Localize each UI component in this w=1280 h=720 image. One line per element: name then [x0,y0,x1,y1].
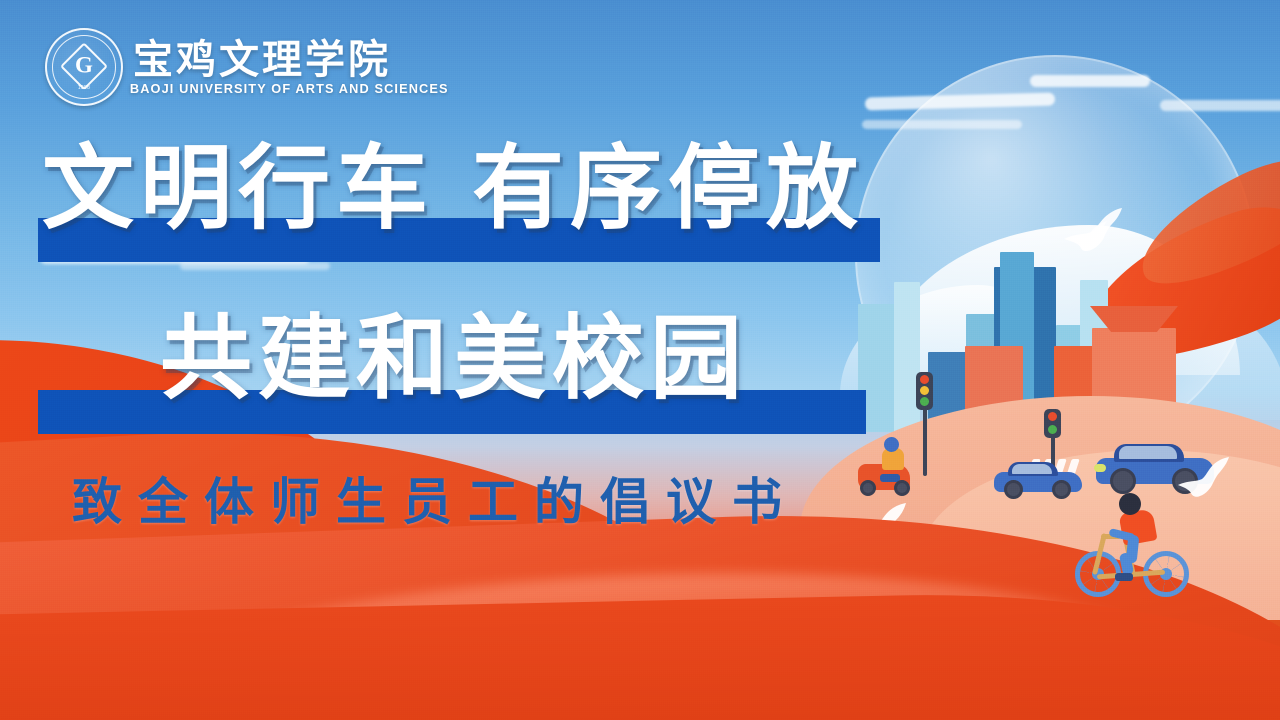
car-window [1119,446,1177,459]
car-headlight [1094,464,1106,472]
car-wheel [1052,480,1071,499]
university-name-en: BAOJI UNIVERSITY OF ARTS AND SCIENCES [130,82,449,96]
car-wheel [1004,480,1023,499]
headline-line-1: 文明行车 有序停放 [42,143,864,235]
university-crest-icon: G 1958 [45,28,123,106]
scooter-wheel [860,480,876,496]
university-name-cn: 宝鸡文理学院 [133,39,446,81]
traffic-light-red [920,375,929,384]
car-window [1012,464,1052,474]
scooter-rider [858,436,924,494]
cloud-icon [180,262,330,270]
cyclist [1075,490,1215,605]
poster-canvas: 文明行车 有序停放 共建和美校园 致全体师生员工的倡议书 G 1958 宝鸡文理… [0,0,1280,720]
building [894,282,920,432]
traffic-light-green [1048,425,1057,434]
crest-year: 1958 [78,85,90,91]
traffic-light-green [920,397,929,406]
cloud-icon [862,120,1022,129]
cyclist-head [1119,493,1141,515]
headline-line-2: 共建和美校园 [160,313,748,405]
cloud-icon [1030,75,1150,87]
car [994,460,1082,498]
logo-text-block: 宝鸡文理学院 BAOJI UNIVERSITY OF ARTS AND SCIE… [133,39,446,96]
poster-subtitle: 致全体师生员工的倡议书 [72,462,798,534]
traffic-light-box [916,372,933,410]
cyclist-shoe [1115,573,1133,581]
traffic-light-box [1044,409,1061,438]
traffic-light-red [1048,412,1057,421]
traffic-light-yellow [920,386,929,395]
university-logo: G 1958 宝鸡文理学院 BAOJI UNIVERSITY OF ARTS A… [45,28,446,106]
rider-head [884,437,899,452]
crest-letter: G [75,54,93,77]
scooter-wheel [894,480,910,496]
cloud-icon [1160,100,1280,111]
